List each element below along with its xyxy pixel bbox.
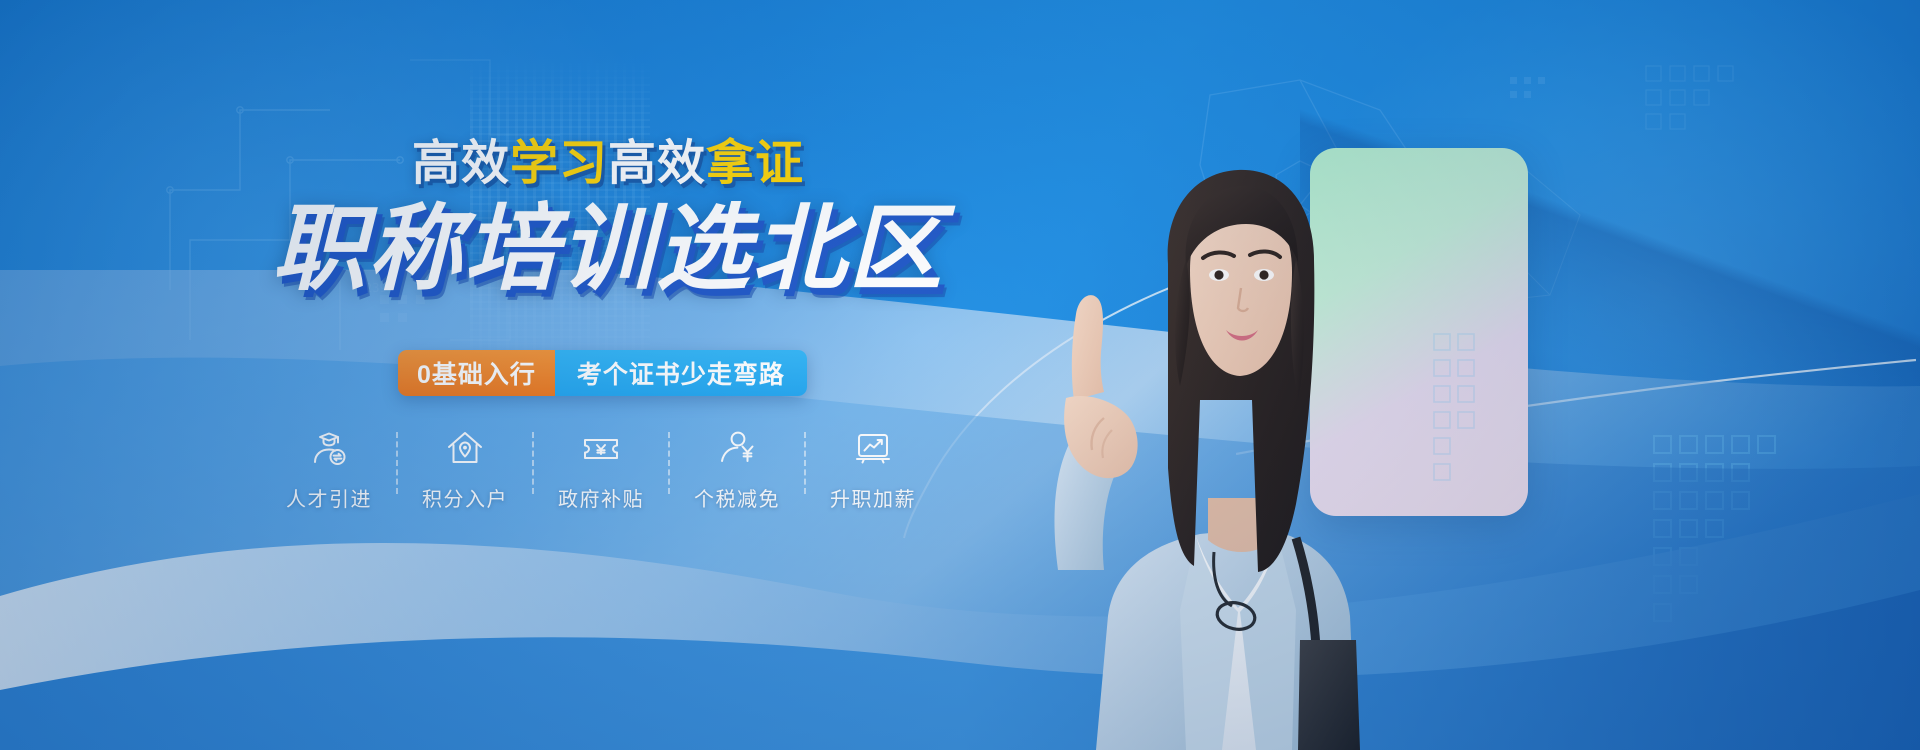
feature-label: 积分入户 [422, 483, 508, 512]
ticket-yuan-icon [581, 428, 621, 468]
background-glow-left [0, 0, 720, 640]
feature-item-government-subsidy[interactable]: 政府补贴 [534, 428, 668, 512]
graduate-person-icon [309, 428, 349, 468]
person-yuan-icon [717, 428, 757, 468]
headline-primary: 职称培训选北区 [258, 200, 958, 299]
feature-label: 升职加薪 [830, 483, 916, 512]
headline-seg-3: 高效 [608, 137, 706, 190]
square-grid-decor [1648, 430, 1838, 730]
headline-primary-text: 职称培训选北区 [272, 196, 944, 301]
feature-item-points-residency[interactable]: 积分入户 [398, 428, 532, 512]
badge-left-label: 0基础入行 [398, 350, 555, 396]
promo-banner: 239 [0, 0, 1920, 750]
feature-item-promotion-raise[interactable]: 升职加薪 [806, 428, 940, 512]
badge-right-label: 考个证书少走弯路 [555, 350, 807, 396]
feature-list: 人才引进 积分入户 [262, 428, 940, 512]
square-grid-decor-top [1640, 60, 1870, 230]
headline-seg-4: 拿证 [706, 137, 804, 190]
feature-label: 个税减免 [694, 483, 780, 512]
feature-label: 人才引进 [286, 483, 372, 512]
vignette-overlay [0, 0, 1920, 750]
headline-seg-2: 学习 [510, 137, 608, 190]
headline-secondary: 高效学习高效拿证 [258, 140, 958, 188]
headline-seg-1: 高效 [412, 137, 510, 190]
chart-board-icon [853, 428, 893, 468]
house-pin-icon [445, 428, 485, 468]
tagline-badge: 0基础入行 考个证书少走弯路 [398, 350, 807, 396]
feature-item-talent-introduction[interactable]: 人才引进 [262, 428, 396, 512]
feature-item-tax-reduction[interactable]: 个税减免 [670, 428, 804, 512]
headline-block: 高效学习高效拿证 职称培训选北区 [258, 140, 958, 299]
presenter-photo [1000, 100, 1420, 750]
feature-label: 政府补贴 [558, 483, 644, 512]
